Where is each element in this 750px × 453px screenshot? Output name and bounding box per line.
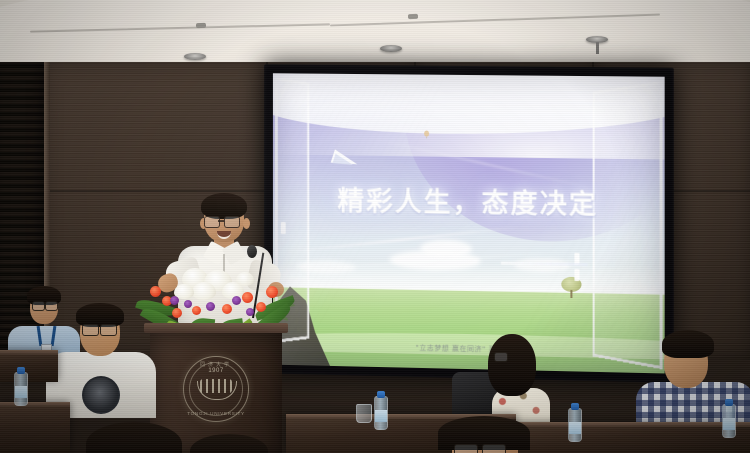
lecture-hall-photo: 精彩人生，态度决定 "立志梦想 赢在同济" 系列活动 — [0, 0, 750, 453]
bottle-label — [15, 386, 27, 398]
podium-top — [144, 323, 288, 333]
window-frame-icon — [592, 81, 662, 370]
bottle-label — [375, 410, 387, 422]
audience-member-white-tee — [46, 306, 156, 416]
emblem-institution-en: TONGJI UNIVERSITY — [184, 411, 248, 416]
eyeglasses-icon — [482, 444, 506, 453]
audience-desk-right — [512, 424, 750, 453]
bottle-cap — [17, 367, 25, 374]
desk-edge — [512, 422, 750, 427]
tshirt-graphic — [82, 376, 120, 414]
bottle-cap — [377, 391, 385, 398]
bottle-cap — [725, 399, 733, 406]
eyeglasses-icon — [82, 324, 99, 336]
water-bottle[interactable] — [374, 396, 388, 430]
water-glass[interactable] — [356, 404, 372, 423]
foreground-audience-member-center — [430, 416, 538, 453]
water-bottle[interactable] — [568, 408, 582, 442]
eyeglasses-icon — [32, 301, 45, 311]
ceiling-downlight — [184, 53, 206, 60]
bottle-label — [569, 422, 581, 434]
ceiling-downlight — [380, 45, 402, 52]
ceiling-pendant-rod — [596, 42, 599, 54]
bottle-cap — [571, 403, 579, 410]
audience-desk-back-left — [0, 352, 58, 382]
audience-hair — [190, 434, 268, 453]
microphone-head — [247, 245, 257, 258]
emblem-institution-cn: 同济大学 — [184, 361, 248, 368]
eyeglasses-icon — [494, 352, 508, 362]
eyeglasses-icon — [204, 216, 220, 228]
track-light-head — [196, 23, 206, 28]
eyeglasses-icon — [224, 216, 240, 228]
audience-hair — [86, 422, 182, 453]
water-bottle[interactable] — [722, 404, 736, 438]
ceiling — [0, 0, 750, 62]
foreground-audience-member-left — [86, 422, 182, 453]
eyeglasses-icon — [100, 324, 117, 336]
eyeglasses-icon — [454, 444, 478, 453]
water-bottle[interactable] — [14, 372, 28, 406]
audience-desk-front-left — [0, 404, 70, 453]
audience-hair — [662, 330, 714, 358]
track-light-head — [408, 14, 418, 19]
desk-edge — [0, 350, 58, 355]
foreground-audience-member-right — [190, 434, 268, 453]
bottle-label — [723, 418, 735, 430]
balloon-icon — [424, 130, 429, 136]
audience-hair — [488, 334, 536, 396]
projection-screen: 精彩人生，态度决定 "立志梦想 赢在同济" 系列活动 — [264, 64, 674, 382]
slide-canvas: 精彩人生，态度决定 "立志梦想 赢在同济" 系列活动 — [273, 73, 665, 373]
emblem-year: 1907 — [184, 368, 248, 374]
slide-title: 精彩人生，态度决定 — [273, 178, 665, 223]
desk-edge — [0, 402, 70, 407]
university-emblem: 同济大学 1907 TONGJI UNIVERSITY — [183, 356, 249, 422]
